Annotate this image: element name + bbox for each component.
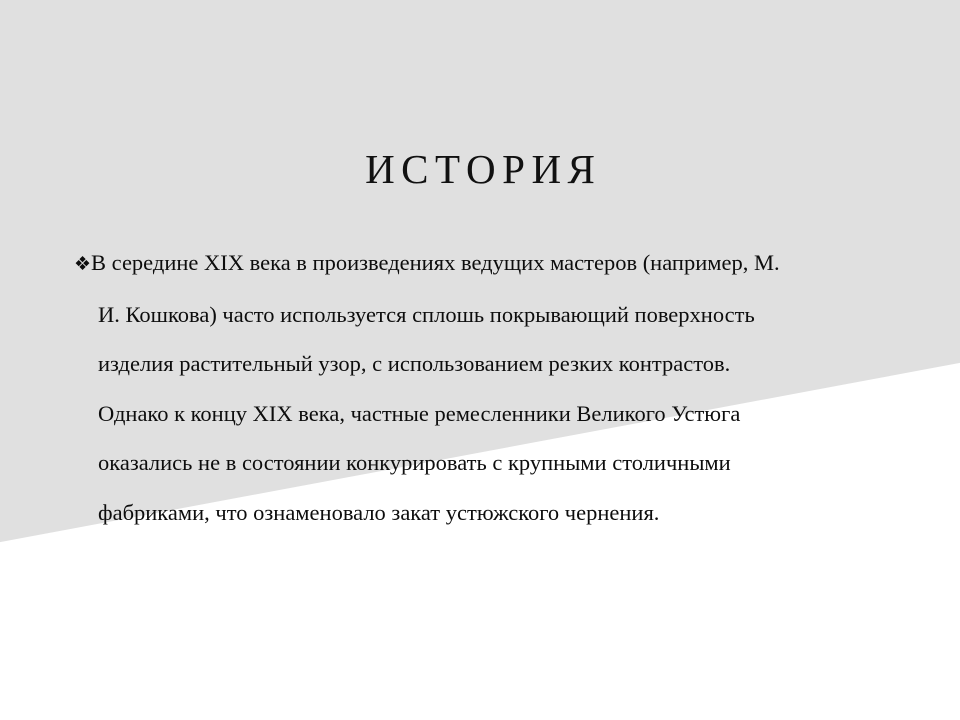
body-line-4: Однако к концу XIX века, частные ремесле… (74, 389, 934, 439)
page-title: ИСТОРИЯ (0, 148, 960, 191)
body-line-2: И. Кошкова) часто используется сплошь по… (74, 290, 934, 340)
body-text-block: ❖В середине XIX века в произведениях вед… (74, 238, 934, 537)
slide-content: ИСТОРИЯ ❖В середине XIX века в произведе… (0, 0, 960, 720)
presentation-slide: ИСТОРИЯ ❖В середине XIX века в произведе… (0, 0, 960, 720)
body-line-1-text: В середине XIX века в произведениях веду… (91, 250, 780, 275)
body-line-3: изделия растительный узор, с использован… (74, 339, 934, 389)
body-line-1: ❖В середине XIX века в произведениях вед… (74, 238, 934, 290)
diamond-bullet-icon: ❖ (74, 254, 91, 275)
body-line-6: фабриками, что ознаменовало закат устюжс… (74, 488, 934, 538)
list-item: ❖В середине XIX века в произведениях вед… (74, 238, 934, 537)
body-line-5: оказались не в состоянии конкурировать с… (74, 438, 934, 488)
